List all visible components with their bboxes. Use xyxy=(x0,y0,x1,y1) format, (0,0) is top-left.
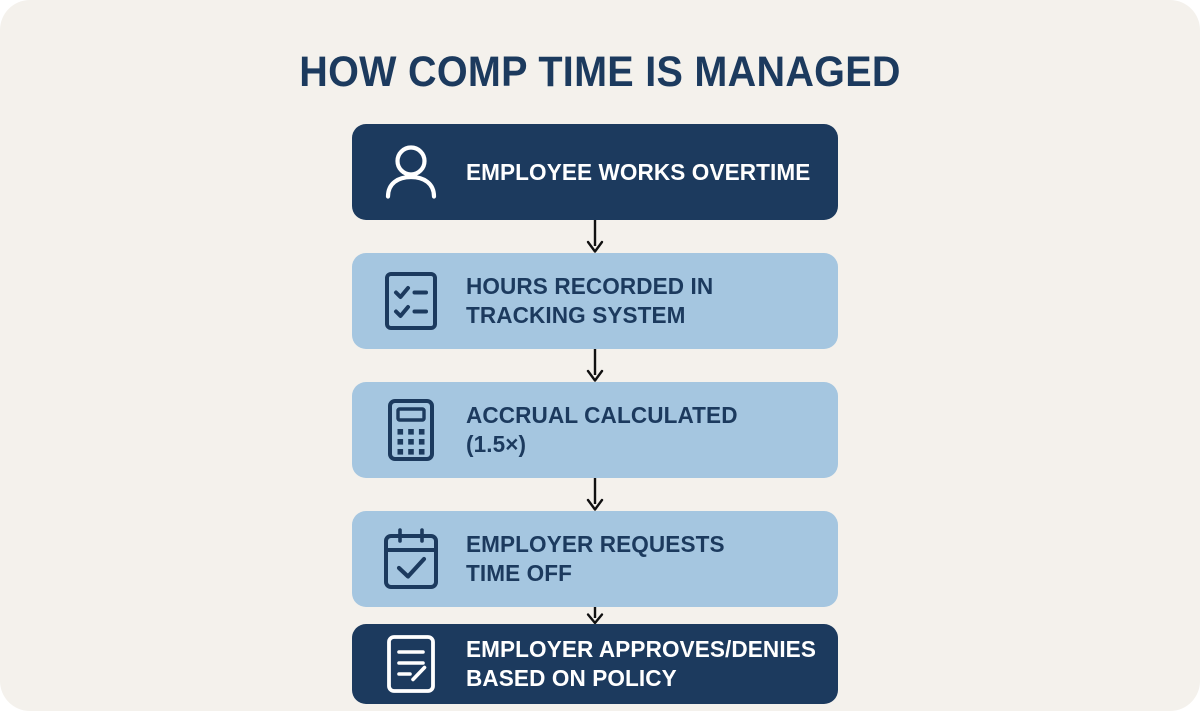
flow-step-label: HOURS RECORDED IN TRACKING SYSTEM xyxy=(466,272,713,329)
arrow-down-icon xyxy=(584,349,606,382)
flow-step-employee-works-overtime[interactable]: EMPLOYEE WORKS OVERTIME xyxy=(352,124,838,220)
arrow-down-icon xyxy=(584,220,606,253)
flow-step-label: EMPLOYER APPROVES/DENIES BASED ON POLICY xyxy=(466,635,816,692)
flow-step-accrual-calculated[interactable]: ACCRUAL CALCULATED (1.5×) xyxy=(352,382,838,478)
arrow-down-icon xyxy=(584,607,606,624)
calculator-icon xyxy=(378,397,444,463)
flow-step-employer-requests-time-off[interactable]: EMPLOYER REQUESTS TIME OFF xyxy=(352,511,838,607)
checklist-icon xyxy=(378,268,444,334)
arrow-down-icon xyxy=(584,478,606,511)
person-icon xyxy=(378,139,444,205)
flow-step-employer-approves-denies[interactable]: EMPLOYER APPROVES/DENIES BASED ON POLICY xyxy=(352,624,838,704)
infographic-canvas: HOW COMP TIME IS MANAGED EMPLOYEE WORKS … xyxy=(0,0,1200,711)
flow-connector xyxy=(352,607,838,624)
flow-step-label: ACCRUAL CALCULATED (1.5×) xyxy=(466,401,738,458)
flow-connector xyxy=(352,220,838,253)
page-title: HOW COMP TIME IS MANAGED xyxy=(48,48,1152,97)
document-sign-icon xyxy=(378,631,444,697)
flow-step-label: EMPLOYER REQUESTS TIME OFF xyxy=(466,530,725,587)
flow-connector xyxy=(352,349,838,382)
flow-connector xyxy=(352,478,838,511)
flow-diagram: EMPLOYEE WORKS OVERTIME HOURS RECORDED I… xyxy=(352,124,838,704)
calendar-check-icon xyxy=(378,526,444,592)
flow-step-hours-recorded[interactable]: HOURS RECORDED IN TRACKING SYSTEM xyxy=(352,253,838,349)
flow-step-label: EMPLOYEE WORKS OVERTIME xyxy=(466,158,810,187)
